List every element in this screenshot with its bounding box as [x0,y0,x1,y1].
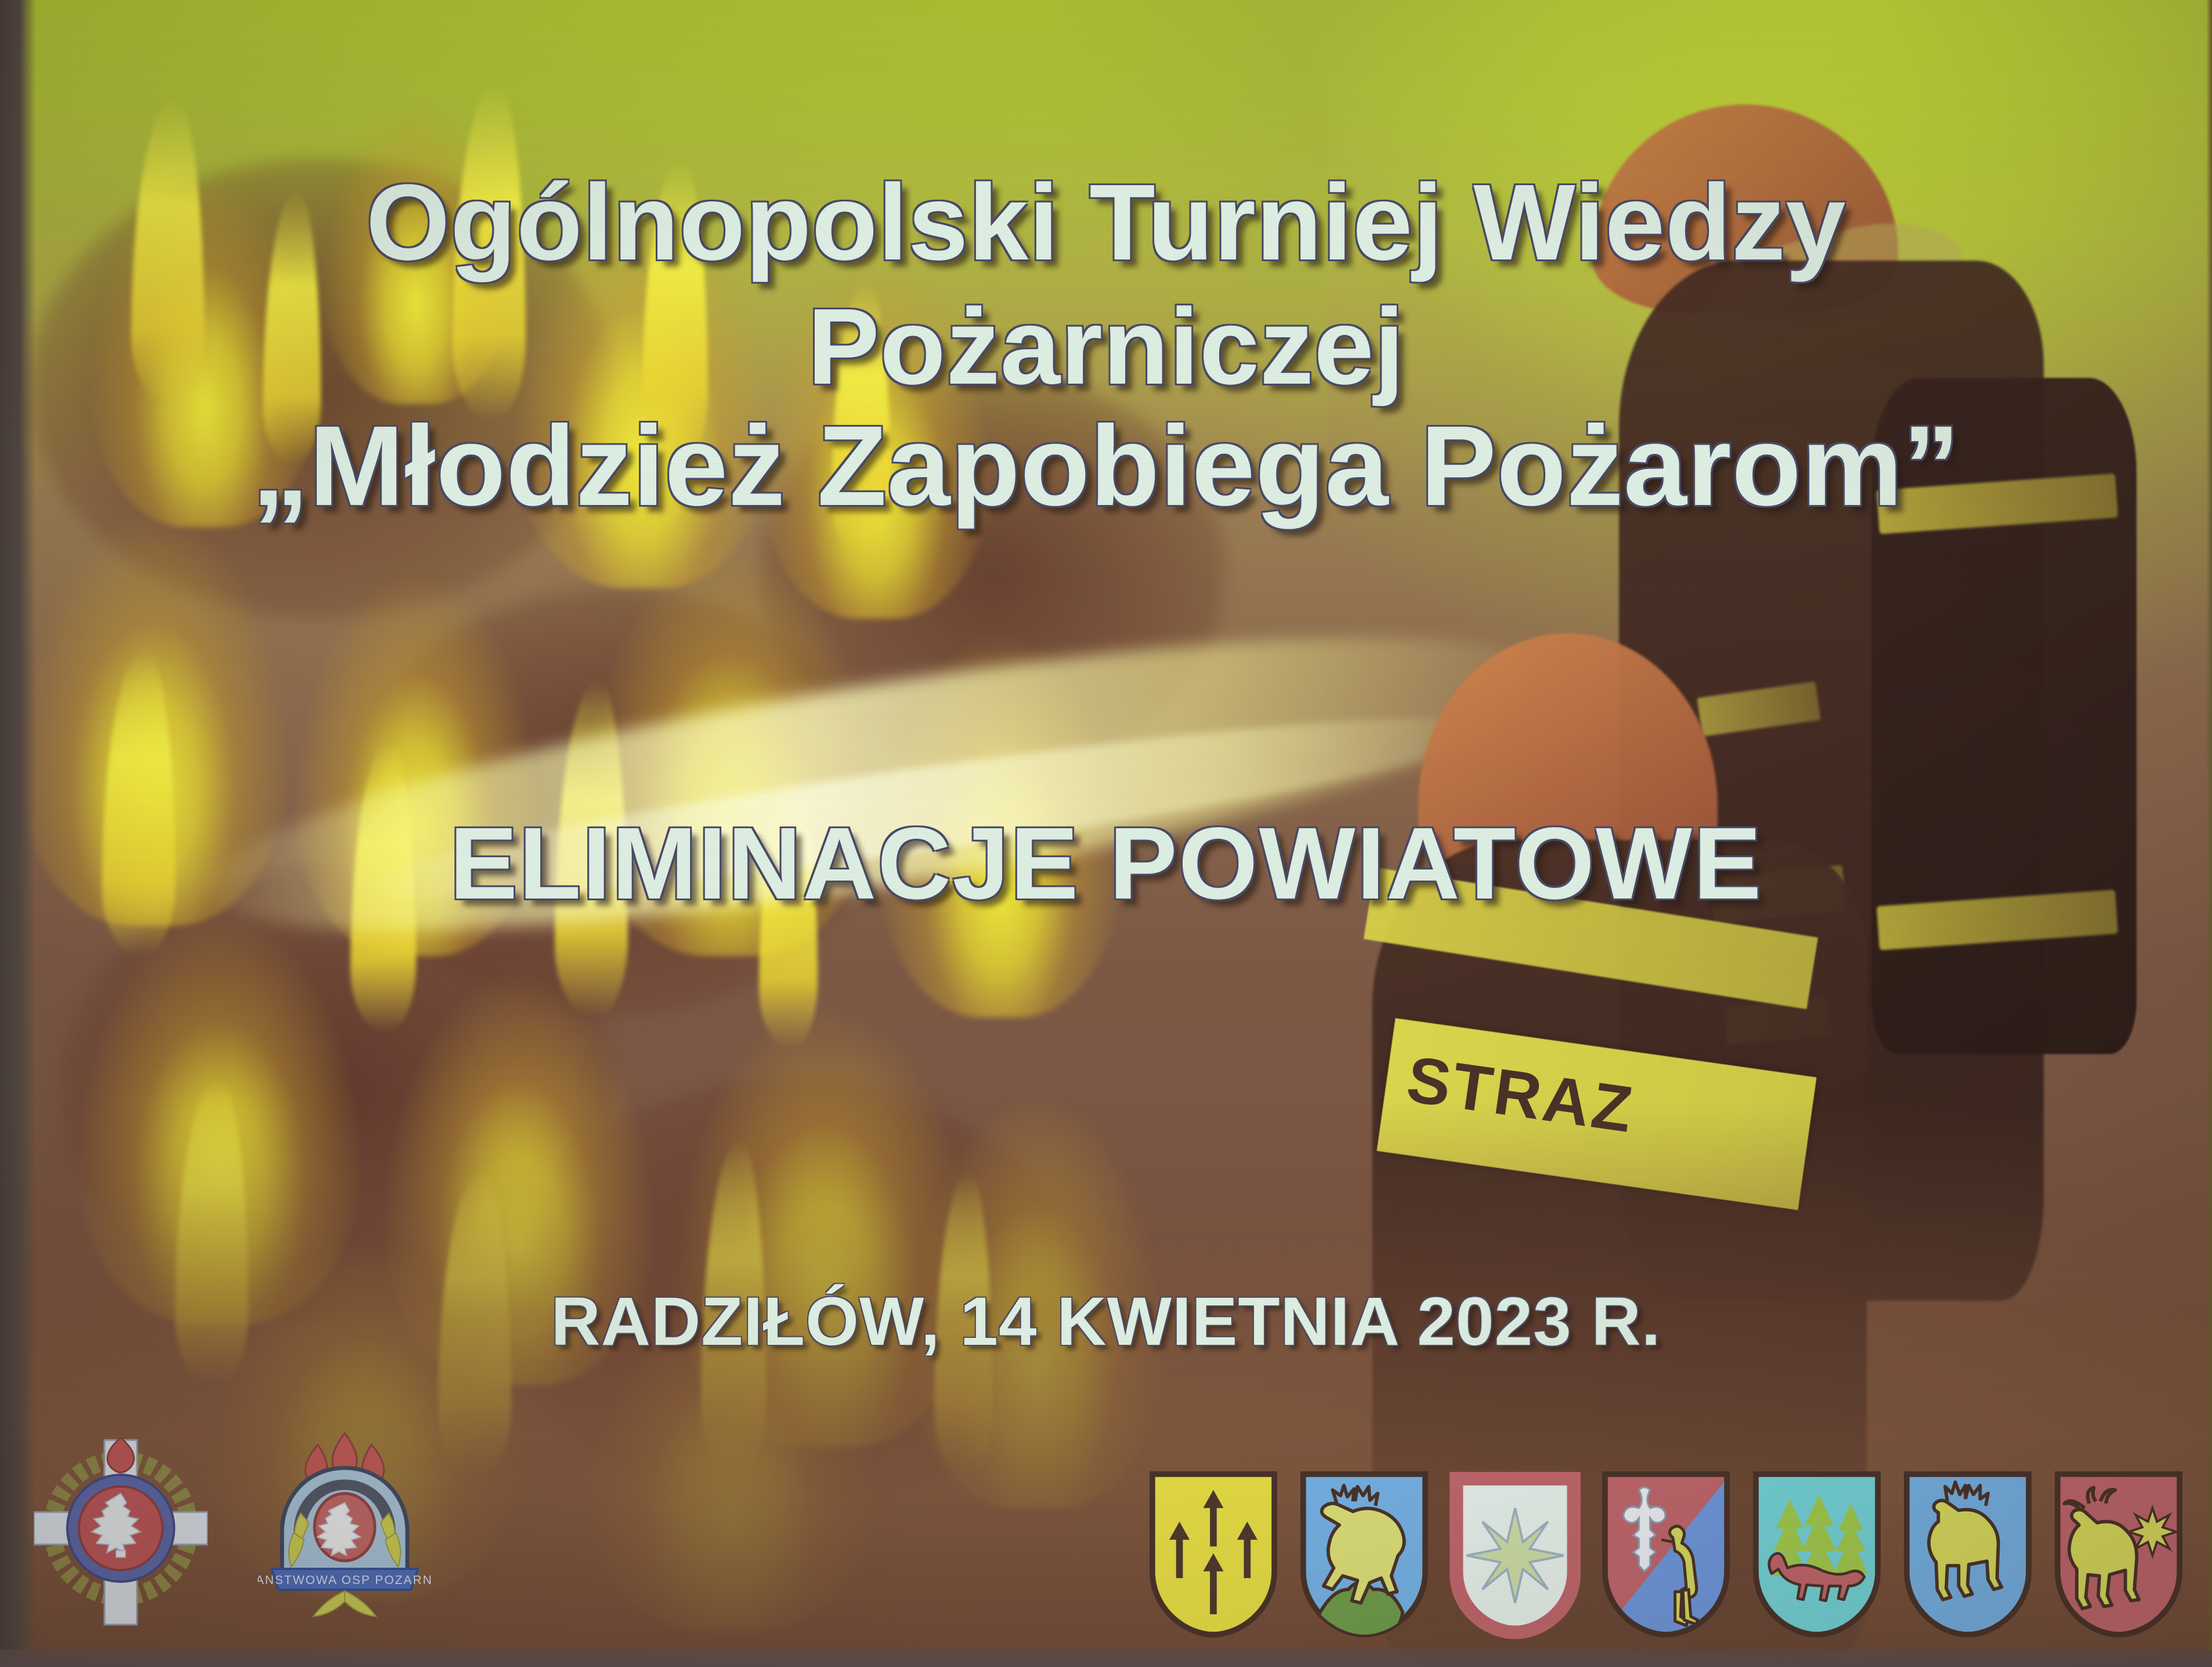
panstwowa-straz-pozarna-emblem [34,1437,208,1631]
stage-heading: ELIMINACJE POWIATOWE [0,810,2212,918]
projection-screen-right-edge [2206,0,2212,1667]
ochotnicza-straz-pozarna-emblem: PANSTWOWA OSP POZARNA [258,1431,432,1631]
organisation-emblems: PANSTWOWA OSP POZARNA [34,1431,432,1631]
shield-star [1444,1470,1586,1639]
shield-fox-firs [1745,1470,1888,1639]
slide-text-block: Ogólnopolski Turniej Wiedzy Pożarniczej … [0,0,2212,1667]
gmina-coats-of-arms-row [1142,1470,2190,1639]
title-line-1: Ogólnopolski Turniej Wiedzy [0,166,2212,279]
svg-text:PANSTWOWA OSP POZARNA: PANSTWOWA OSP POZARNA [258,1574,432,1587]
projection-screen-bottom-edge [0,1650,2212,1667]
shield-standing-stag [1896,1470,2039,1639]
osp-badge-icon: PANSTWOWA OSP POZARNA [258,1431,432,1628]
shield-fleur-stork [1595,1470,1737,1639]
place-and-date: RADZIŁÓW, 14 KWIETNIA 2023 R. [0,1286,2212,1358]
title-line-3-quoted-motto: „Młodzież Zapobiega Pożarom” [0,406,2212,526]
psp-cross-icon [34,1437,208,1628]
shield-leaping-deer [1293,1470,1436,1639]
shield-arrows [1142,1470,1285,1639]
shield-elk-star [2047,1470,2190,1639]
projection-screen-left-edge [0,0,36,1667]
title-line-2: Pożarniczej [0,290,2212,403]
presentation-slide: STRAZ Ogólnopolski Turniej Wiedzy Pożarn… [0,0,2212,1667]
